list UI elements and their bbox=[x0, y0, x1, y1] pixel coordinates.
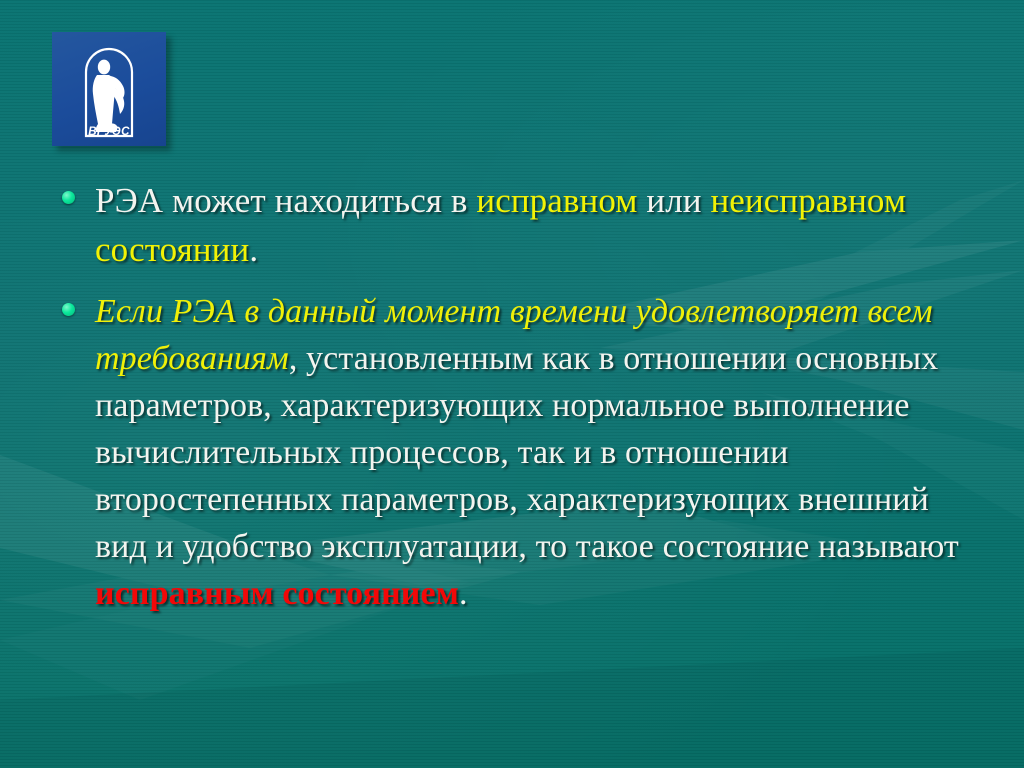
vgues-logo-mark: ВГУЭС bbox=[52, 32, 166, 146]
bullet-item-2: Если РЭА в данный момент времени удовлет… bbox=[0, 288, 1024, 617]
run-normal: . bbox=[459, 575, 468, 612]
bullet-dot-icon bbox=[62, 303, 75, 316]
run-normal: или bbox=[638, 181, 711, 220]
statue-figure-icon bbox=[93, 60, 125, 133]
bullet-1-text: РЭА может находиться в исправном или неи… bbox=[95, 176, 969, 274]
bullet-item-1: РЭА может находиться в исправном или неи… bbox=[0, 176, 1024, 274]
bullet-dot-icon bbox=[62, 191, 75, 204]
run-highlight-yellow: исправном bbox=[476, 181, 637, 220]
run-normal: . bbox=[249, 230, 258, 269]
slide-canvas: ВГУЭС РЭА может находиться в исправном и… bbox=[0, 0, 1024, 768]
vgues-logo: ВГУЭС bbox=[52, 32, 166, 146]
logo-caption: ВГУЭС bbox=[88, 126, 130, 138]
bullet-2-text: Если РЭА в данный момент времени удовлет… bbox=[95, 288, 969, 617]
slide-content: РЭА может находиться в исправном или неи… bbox=[0, 176, 1024, 631]
run-normal: РЭА может находиться в bbox=[95, 181, 476, 220]
run-highlight-red: исправным состоянием bbox=[95, 575, 459, 612]
